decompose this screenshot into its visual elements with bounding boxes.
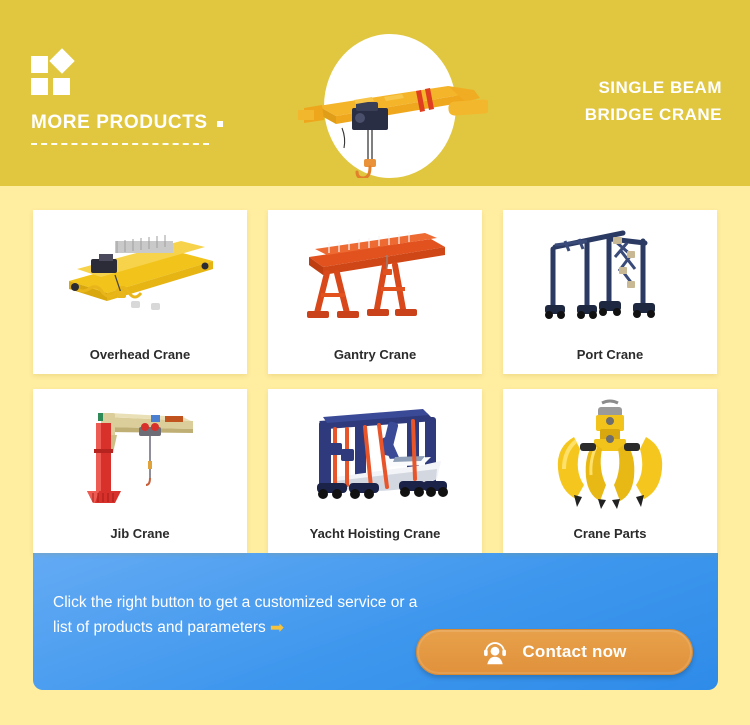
product-grid: Overhead Crane xyxy=(33,210,718,553)
headset-support-icon xyxy=(482,639,508,665)
arrow-right-icon: ➡ xyxy=(270,619,284,636)
product-card-overhead-crane[interactable]: Overhead Crane xyxy=(33,210,247,374)
header-banner: MORE PRODUCTS xyxy=(0,0,750,186)
single-beam-bridge-crane-icon xyxy=(318,28,468,178)
banner-heading: SINGLE BEAM BRIDGE CRANE xyxy=(585,74,722,128)
product-label: Jib Crane xyxy=(33,513,247,553)
promo-page: MORE PRODUCTS xyxy=(0,0,750,725)
four-square-diamond-logo-icon xyxy=(31,52,85,96)
product-card-crane-parts[interactable]: Crane Parts xyxy=(503,389,717,553)
more-products-label: MORE PRODUCTS xyxy=(31,112,208,134)
yacht-hoisting-crane-image-icon xyxy=(268,389,482,513)
dashed-divider xyxy=(31,143,209,145)
port-crane-image-icon xyxy=(503,210,717,334)
product-label: Gantry Crane xyxy=(268,334,482,374)
product-label: Crane Parts xyxy=(503,513,717,553)
product-card-yacht-hoisting-crane[interactable]: Yacht Hoisting Crane xyxy=(268,389,482,553)
jib-crane-image-icon xyxy=(33,389,247,513)
crane-grab-parts-image-icon xyxy=(503,389,717,513)
overhead-crane-image-icon xyxy=(33,210,247,334)
square-bullet-icon xyxy=(217,121,223,127)
banner-heading-line-2: BRIDGE CRANE xyxy=(585,101,722,128)
product-label: Port Crane xyxy=(503,334,717,374)
banner-heading-line-1: SINGLE BEAM xyxy=(585,74,722,101)
gantry-crane-image-icon xyxy=(268,210,482,334)
cta-panel: Click the right button to get a customiz… xyxy=(33,553,718,690)
product-card-port-crane[interactable]: Port Crane xyxy=(503,210,717,374)
brand-block: MORE PRODUCTS xyxy=(31,52,261,145)
product-card-gantry-crane[interactable]: Gantry Crane xyxy=(268,210,482,374)
cta-message-text: Click the right button to get a customiz… xyxy=(53,594,417,636)
cta-message: Click the right button to get a customiz… xyxy=(53,590,433,640)
product-label: Overhead Crane xyxy=(33,334,247,374)
product-card-jib-crane[interactable]: Jib Crane xyxy=(33,389,247,553)
contact-now-label: Contact now xyxy=(522,642,626,662)
product-label: Yacht Hoisting Crane xyxy=(268,513,482,553)
contact-now-button[interactable]: Contact now xyxy=(416,629,693,675)
more-products-title: MORE PRODUCTS xyxy=(31,112,261,134)
